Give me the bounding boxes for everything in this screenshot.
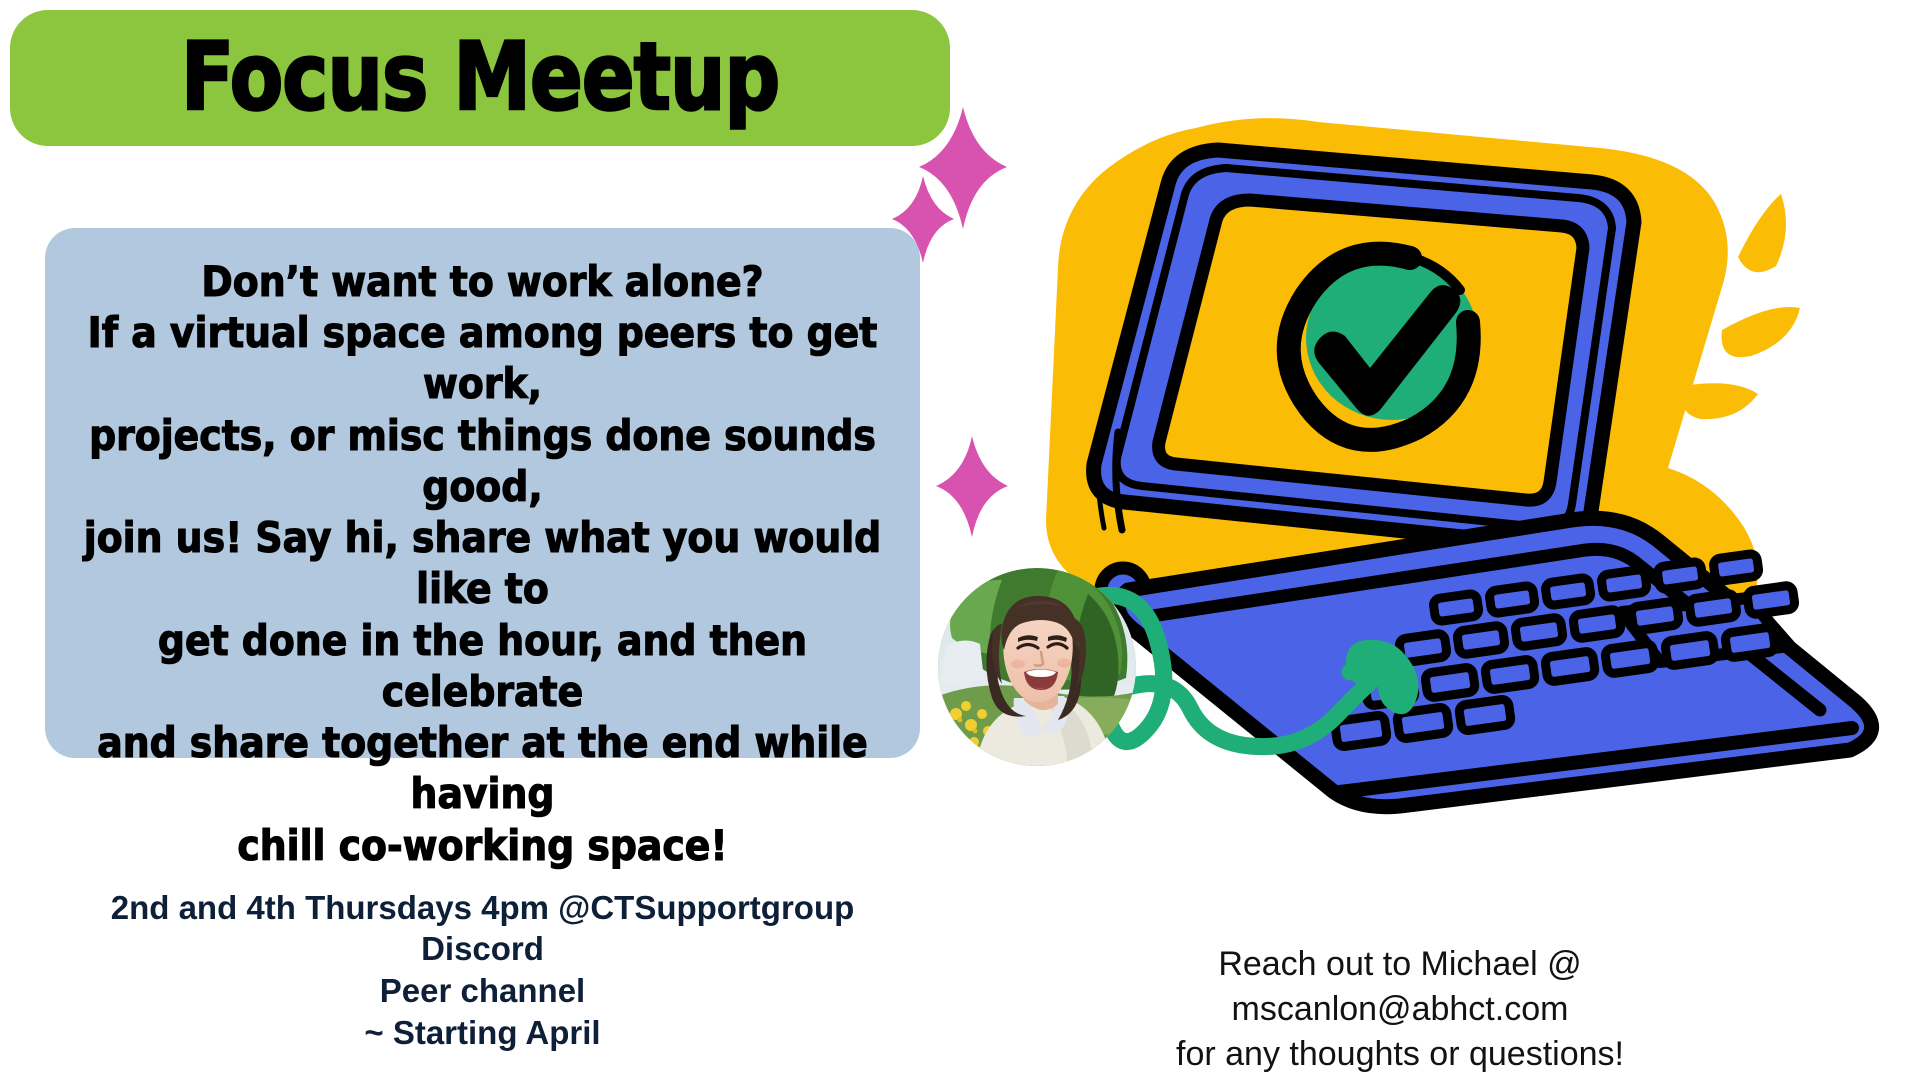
body-line-6: and share together at the end while havi… <box>71 717 894 819</box>
speed-marks <box>1683 194 1800 419</box>
curly-arrow <box>1100 595 1394 746</box>
schedule-details: 2nd and 4th Thursdays 4pm @CTSupportgrou… <box>71 887 894 1053</box>
laptop-doodle <box>1046 118 1872 807</box>
body-line-7: chill co-working space! <box>71 820 894 871</box>
schedule-line-3: ~ Starting April <box>71 1012 894 1054</box>
sparkle-star-medium <box>936 436 1008 537</box>
body-line-1: Don’t want to work alone? <box>71 256 894 307</box>
contact-line-1: Reach out to Michael @ <box>950 942 1850 987</box>
body-line-3: projects, or misc things done sounds goo… <box>71 410 894 512</box>
body-line-4: join us! Say hi, share what you would li… <box>71 512 894 614</box>
poster-canvas: Focus Meetup Don’t want to work alone? I… <box>0 0 1920 1080</box>
curly-arrow-head <box>1346 640 1419 714</box>
schedule-line-1: 2nd and 4th Thursdays 4pm @CTSupportgrou… <box>71 887 894 970</box>
avatar <box>938 568 1136 766</box>
contact-block: Reach out to Michael @ mscanlon@abhct.co… <box>950 942 1850 1078</box>
body-line-5: get done in the hour, and then celebrate <box>71 615 894 717</box>
page-title: Focus Meetup <box>181 31 779 125</box>
body-paragraph: Don’t want to work alone? If a virtual s… <box>71 256 894 871</box>
schedule-line-2: Peer channel <box>71 970 894 1012</box>
body-card: Don’t want to work alone? If a virtual s… <box>45 228 920 758</box>
contact-line-3: for any thoughts or questions! <box>950 1032 1850 1077</box>
title-banner: Focus Meetup <box>10 10 950 146</box>
check-circle-icon <box>1306 256 1478 420</box>
body-line-2: If a virtual space among peers to get wo… <box>71 307 894 409</box>
contact-email[interactable]: mscanlon@abhct.com <box>950 987 1850 1032</box>
